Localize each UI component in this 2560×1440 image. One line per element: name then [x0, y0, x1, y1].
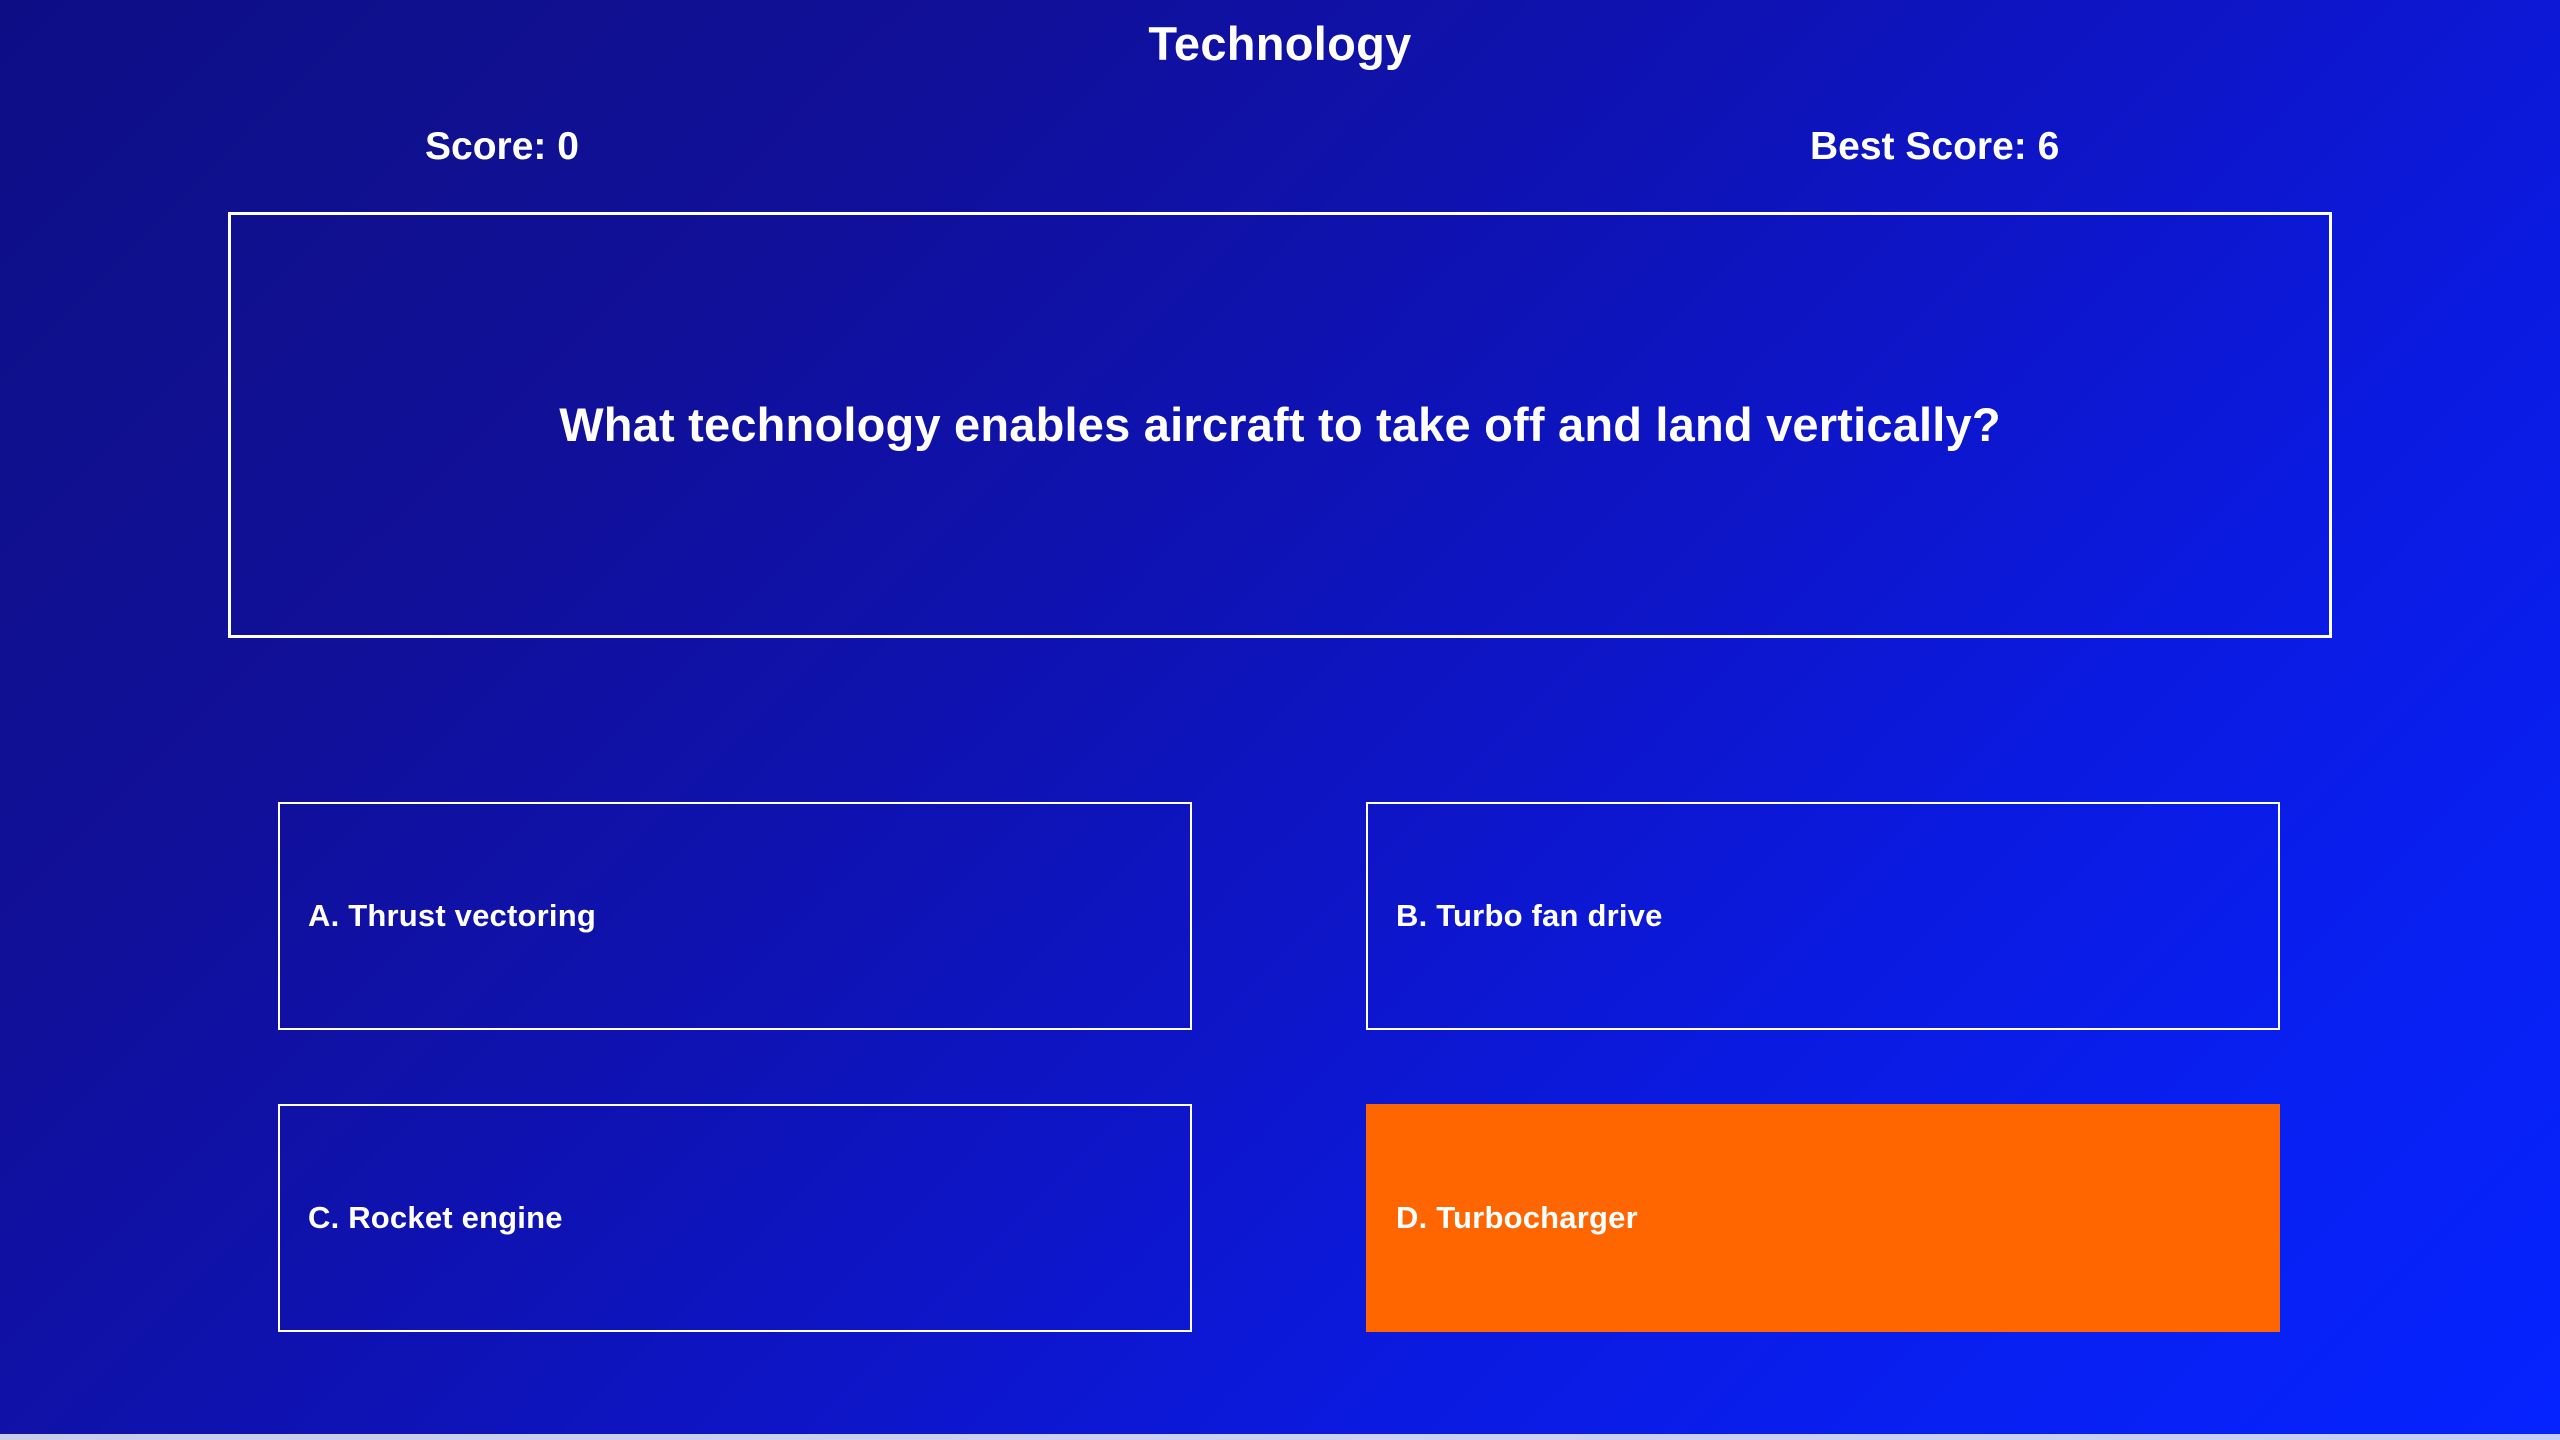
- question-text: What technology enables aircraft to take…: [559, 396, 2001, 455]
- answer-option-c[interactable]: C. Rocket engine: [278, 1104, 1192, 1332]
- answer-option-b-label: B. Turbo fan drive: [1396, 897, 1663, 934]
- answer-option-c-label: C. Rocket engine: [308, 1199, 563, 1236]
- answer-option-d[interactable]: D. Turbocharger: [1366, 1104, 2280, 1332]
- score-row: Score: 0 Best Score: 6: [0, 118, 2560, 178]
- answers-grid: A. Thrust vectoring B. Turbo fan drive C…: [278, 802, 2280, 1332]
- answer-option-d-label: D. Turbocharger: [1396, 1199, 1638, 1236]
- answer-option-a[interactable]: A. Thrust vectoring: [278, 802, 1192, 1030]
- question-box: What technology enables aircraft to take…: [228, 212, 2332, 638]
- bottom-edge-strip: [0, 1434, 2560, 1440]
- quiz-screen: Technology Score: 0 Best Score: 6 What t…: [0, 0, 2560, 1440]
- current-score: Score: 0: [425, 118, 579, 176]
- page-title: Technology: [0, 16, 2560, 72]
- answer-option-a-label: A. Thrust vectoring: [308, 897, 596, 934]
- best-score: Best Score: 6: [1810, 118, 2059, 176]
- answer-option-b[interactable]: B. Turbo fan drive: [1366, 802, 2280, 1030]
